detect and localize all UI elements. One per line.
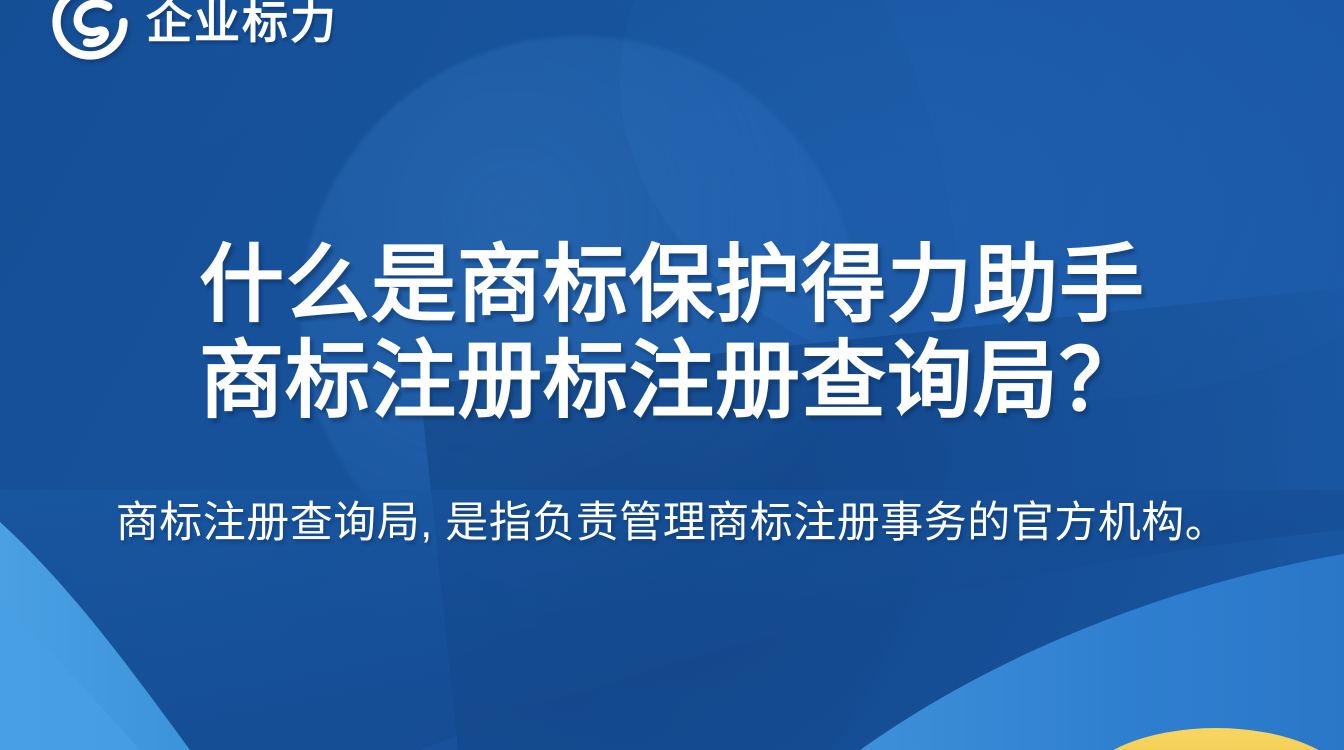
spiral-g-circle-icon <box>52 0 128 60</box>
headline-line-1: 什么是商标保护得力助手 <box>24 238 1320 334</box>
page-title: 什么是商标保护得力助手 商标注册标注册查询局？ <box>0 238 1344 430</box>
headline-line-2: 商标注册标注册查询局？ <box>24 334 1320 430</box>
brand-name: 企业标力 <box>146 0 338 45</box>
poster-canvas: 企业标力 什么是商标保护得力助手 商标注册标注册查询局？ 商标注册查询局, 是指… <box>0 0 1344 750</box>
brand-lockup: 企业标力 <box>52 0 338 60</box>
page-subtitle: 商标注册查询局, 是指负责管理商标注册事务的官方机构。 <box>0 498 1344 550</box>
